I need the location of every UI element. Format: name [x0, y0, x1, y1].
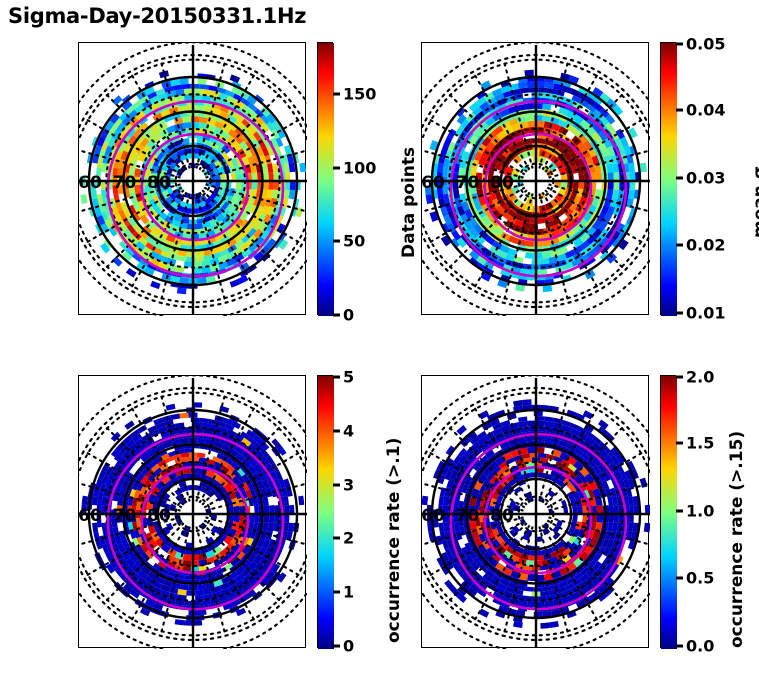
- data-cell: [197, 78, 206, 84]
- cbar-tick-label: 0.02: [686, 236, 725, 255]
- data-cell: [254, 505, 259, 514]
- colorbar-mean-sigma-phi[interactable]: [660, 42, 676, 315]
- polar-plot-occurrence-rate-01: 607080: [79, 376, 307, 649]
- latitude-label: 60: [422, 173, 445, 193]
- data-cell: [179, 413, 188, 419]
- polar-panel-occurrence-rate-01[interactable]: 607080: [78, 375, 306, 648]
- data-cell: [170, 414, 180, 420]
- polar-panel-data-points[interactable]: 607080: [78, 42, 306, 315]
- data-cell: [609, 505, 614, 514]
- data-cell: [542, 252, 551, 259]
- data-cell: [524, 70, 533, 77]
- latitude-label: 80: [147, 173, 171, 193]
- cbar-tick-label: 2.0: [686, 368, 714, 387]
- data-cell: [456, 425, 467, 435]
- data-cell: [184, 620, 193, 625]
- cbar-tick-label: 0.03: [686, 169, 725, 188]
- data-cell: [197, 610, 206, 616]
- data-cell: [285, 181, 290, 190]
- data-cell: [536, 447, 545, 454]
- cbar-tick-label: 0: [343, 637, 354, 656]
- cbar-tick-label: 150: [343, 85, 376, 104]
- latitude-label: 70: [113, 506, 137, 526]
- cbar-tick-label: 4: [343, 422, 354, 441]
- data-cell: [536, 82, 545, 88]
- data-cell: [289, 505, 294, 514]
- data-cell: [597, 514, 604, 523]
- polar-plot-mean-sigma-phi: 607080: [422, 43, 650, 316]
- data-cell: [195, 590, 204, 596]
- data-cell: [479, 410, 490, 419]
- data-cell: [193, 575, 202, 580]
- data-cell: [273, 172, 279, 181]
- data-cell: [235, 181, 241, 189]
- data-cell: [597, 505, 604, 514]
- data-cell: [629, 514, 634, 523]
- data-cell: [285, 514, 290, 523]
- colorbar-occurrence-rate-015[interactable]: [660, 375, 676, 648]
- data-cell: [527, 601, 536, 607]
- latitude-label: 60: [79, 506, 102, 526]
- data-cell: [609, 514, 614, 523]
- data-cell: [573, 181, 579, 189]
- data-cell: [233, 506, 240, 514]
- data-cell: [525, 436, 534, 441]
- data-cell: [536, 601, 545, 607]
- latitude-labels: 607080: [422, 173, 514, 193]
- data-cell: [549, 621, 559, 628]
- latitude-labels: 607080: [79, 506, 171, 526]
- cbar-tick-label: 0.0: [686, 637, 714, 656]
- data-cell: [538, 472, 546, 478]
- data-cell: [645, 505, 650, 514]
- colorbar-gradient-data-points: [318, 43, 334, 316]
- data-cell: [592, 506, 597, 515]
- cbar-tick-label: 100: [343, 159, 376, 178]
- data-cell: [527, 121, 536, 128]
- data-cell: [197, 584, 206, 590]
- data-cell: [230, 74, 241, 83]
- data-cell: [175, 619, 185, 625]
- data-cell: [525, 586, 534, 591]
- data-cell: [592, 514, 597, 523]
- colorbar-occurrence-rate-01[interactable]: [317, 375, 333, 648]
- data-cell: [598, 419, 609, 429]
- polar-panel-occurrence-rate-015[interactable]: 607080: [421, 375, 649, 648]
- data-cell: [608, 181, 614, 190]
- data-cell: [182, 116, 191, 122]
- data-cell: [264, 505, 270, 514]
- latitude-label: 80: [490, 506, 514, 526]
- data-cell: [80, 194, 87, 204]
- data-cell: [578, 173, 584, 181]
- data-cell: [543, 285, 553, 292]
- data-cell: [613, 172, 619, 181]
- polar-plot-occurrence-rate-015: 607080: [422, 376, 650, 649]
- data-cell: [525, 115, 534, 121]
- data-cell: [235, 173, 241, 181]
- data-cell: [299, 163, 306, 173]
- data-cell: [527, 447, 536, 454]
- data-cell: [233, 514, 240, 522]
- cbar-tick-label: 5: [343, 368, 354, 387]
- data-cell: [536, 420, 545, 426]
- data-cell: [252, 172, 258, 181]
- cbar-tick-label: 0.01: [686, 304, 725, 323]
- data-cell: [536, 555, 544, 561]
- data-cell: [422, 496, 428, 506]
- data-cell: [126, 268, 137, 278]
- data-cell: [269, 505, 275, 514]
- data-cell: [193, 402, 202, 407]
- latitude-labels: 607080: [79, 173, 171, 193]
- data-cell: [177, 288, 187, 295]
- colorbar-data-points[interactable]: [317, 42, 333, 315]
- cbar-tick-label: 3: [343, 476, 354, 495]
- data-cell: [527, 82, 536, 88]
- data-cell: [197, 438, 206, 444]
- latitude-label: 70: [113, 173, 137, 193]
- latitude-label: 80: [490, 173, 514, 193]
- figure-title: Sigma-Day-20150331.1Hz: [8, 4, 306, 28]
- data-cell: [527, 420, 536, 426]
- polar-panel-mean-sigma-phi[interactable]: 607080: [421, 42, 649, 315]
- data-cell: [197, 277, 206, 283]
- colorbar-label-data-points: Data points: [399, 147, 419, 258]
- latitude-label: 60: [422, 506, 445, 526]
- data-cell: [629, 181, 635, 190]
- data-cell: [180, 438, 189, 444]
- data-cell: [525, 252, 534, 258]
- figure-canvas: Sigma-Day-20150331.1Hz 607080 0 50 100 1…: [0, 0, 759, 674]
- data-cell: [538, 269, 547, 275]
- data-cell: [193, 620, 202, 625]
- latitude-label: 70: [456, 173, 480, 193]
- data-cell: [166, 404, 176, 411]
- data-cell: [540, 258, 549, 265]
- data-cell: [252, 181, 258, 190]
- data-cell: [547, 490, 555, 498]
- data-cell: [613, 514, 618, 523]
- data-cell: [629, 505, 634, 514]
- data-cell: [608, 172, 614, 181]
- data-cell: [195, 256, 204, 262]
- latitude-label: 80: [147, 506, 171, 526]
- data-cell: [269, 514, 275, 523]
- colorbar-label-occurrence-rate-015: occurrence rate (>.15): [727, 431, 747, 648]
- latitude-label: 70: [456, 506, 480, 526]
- data-cell: [536, 229, 544, 236]
- colorbar-ticks-data-points: 0 50 100 150: [333, 42, 393, 315]
- data-cell: [629, 172, 635, 181]
- data-cell: [578, 181, 584, 189]
- data-cell: [528, 127, 536, 134]
- data-cell: [183, 554, 192, 561]
- data-cell: [254, 514, 259, 523]
- data-cell: [540, 591, 549, 597]
- data-cell: [528, 555, 536, 561]
- data-cell: [613, 505, 618, 514]
- data-cell: [180, 584, 189, 590]
- colorbar-gradient-occurrence-rate-01: [318, 376, 334, 649]
- data-cell: [538, 453, 547, 458]
- cbar-tick-label: 2: [343, 529, 354, 548]
- data-cell: [479, 609, 490, 618]
- cbar-tick-label: 1.5: [686, 434, 714, 453]
- data-cell: [268, 172, 273, 181]
- polar-plot-data-points: 607080: [79, 43, 307, 316]
- data-cell: [520, 88, 529, 94]
- cbar-tick-label: 0.04: [686, 101, 725, 120]
- colorbar-gradient-occurrence-rate-015: [661, 376, 677, 649]
- data-cell: [184, 448, 193, 453]
- data-cell: [577, 506, 583, 514]
- cbar-tick-label: 1: [343, 583, 354, 602]
- data-cell: [583, 410, 594, 419]
- cbar-tick-label: 0.5: [686, 569, 714, 588]
- data-cell: [150, 281, 160, 289]
- data-cell: [179, 277, 188, 283]
- data-cell: [285, 505, 290, 514]
- data-cell: [538, 87, 547, 93]
- data-cell: [264, 514, 270, 523]
- cbar-tick-label: 0: [343, 306, 354, 325]
- data-cell: [525, 240, 534, 246]
- data-cell: [613, 181, 619, 190]
- data-cell: [179, 78, 188, 84]
- data-cell: [644, 523, 650, 533]
- data-cell: [540, 622, 549, 628]
- data-cell: [184, 575, 193, 580]
- colorbar-gradient-mean-sigma-phi: [661, 43, 677, 316]
- data-cell: [182, 122, 191, 129]
- data-cell: [525, 103, 534, 109]
- data-cell: [596, 172, 602, 181]
- data-cell: [536, 416, 545, 421]
- cbar-tick-label: 50: [343, 232, 365, 251]
- data-cell: [522, 399, 531, 405]
- data-cell: [536, 121, 545, 128]
- data-cell: [182, 84, 191, 89]
- data-cell: [250, 514, 255, 522]
- latitude-label: 60: [79, 173, 102, 193]
- data-cell: [527, 575, 536, 582]
- colorbar-label-occurrence-rate-01: occurrence rate (>.1): [384, 438, 404, 643]
- data-cell: [290, 181, 296, 190]
- data-cell: [195, 223, 203, 229]
- data-cell: [542, 103, 551, 110]
- cbar-tick-label: 0.05: [686, 35, 725, 54]
- latitude-labels: 607080: [422, 506, 514, 526]
- data-cell: [268, 181, 273, 190]
- data-cell: [536, 575, 545, 582]
- colorbar-ticks-mean-sigma-phi: 0.01 0.02 0.03 0.04 0.05: [676, 42, 746, 315]
- data-cell: [298, 496, 304, 506]
- colorbar-label-mean-sigma-phi: mean σφ: [750, 157, 759, 238]
- cbar-tick-label: 1.0: [686, 502, 714, 521]
- data-cell: [285, 172, 290, 181]
- data-cell: [640, 162, 647, 172]
